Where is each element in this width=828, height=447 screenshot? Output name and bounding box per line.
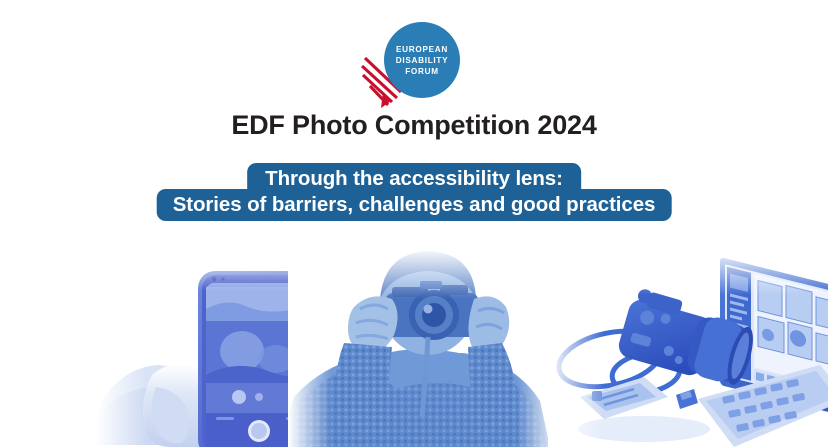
poster-canvas: EUROPEAN DISABILITY FORUM EDF Photo Comp… (0, 0, 828, 447)
subtitle-banner: Through the accessibility lens: Stories … (0, 163, 828, 223)
logo-text-line-2: DISABILITY (396, 55, 449, 66)
european-disability-forum-logo: EUROPEAN DISABILITY FORUM (359, 22, 469, 108)
logo-text-line-1: EUROPEAN (396, 44, 448, 55)
logo-block: EUROPEAN DISABILITY FORUM (0, 22, 828, 108)
photo-strip (0, 247, 828, 447)
photo-dslr-camera-and-laptop (548, 247, 828, 447)
photo-person-taking-picture-with-camera (288, 247, 560, 447)
page-title: EDF Photo Competition 2024 (0, 110, 828, 141)
logo-blue-circle: EUROPEAN DISABILITY FORUM (384, 22, 460, 98)
logo-text-line-3: FORUM (405, 66, 439, 77)
banner-line-2: Stories of barriers, challenges and good… (157, 189, 672, 221)
